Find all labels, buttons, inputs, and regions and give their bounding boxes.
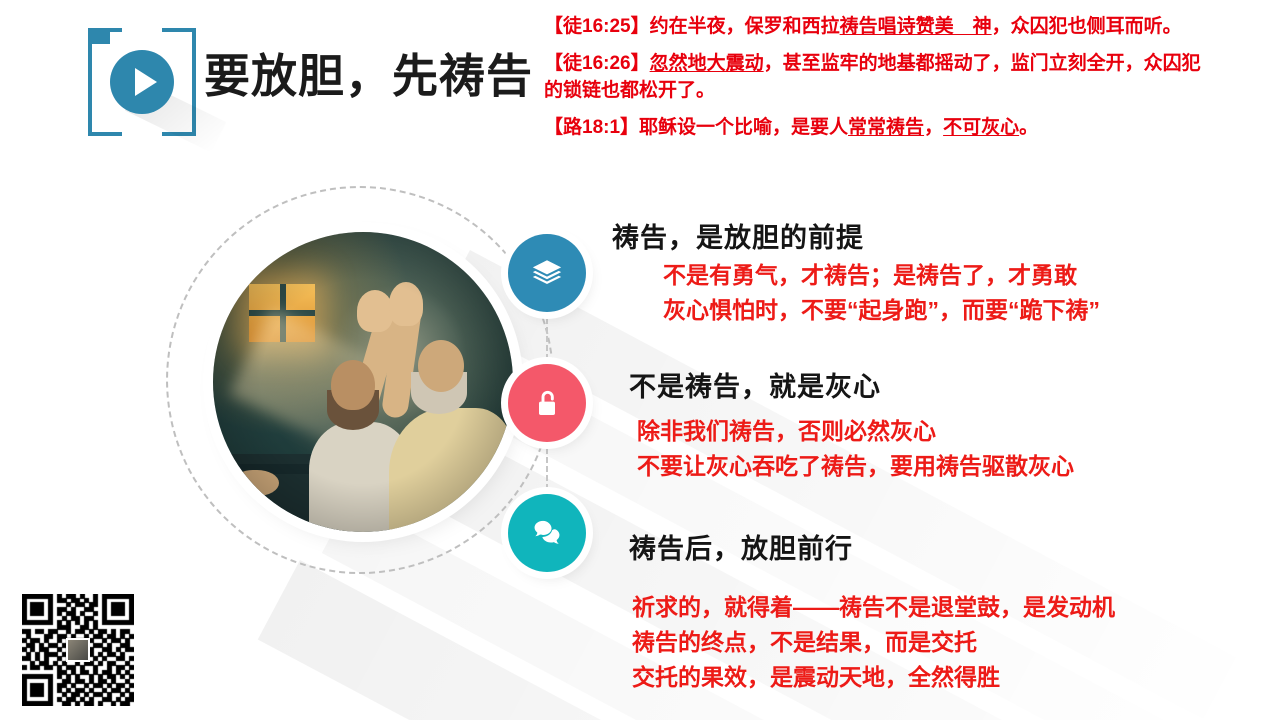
scripture-text: ，: [924, 117, 943, 138]
section-body-line: 祈求的，就得着——祷告不是退堂鼓，是发动机: [632, 590, 1115, 625]
dashed-connector-2: [546, 448, 548, 490]
prison-prayer-illustration: [213, 232, 513, 532]
page-title: 要放胆，先祷告: [204, 40, 533, 106]
scripture-text: 。: [1019, 117, 1038, 138]
section-body-line: 祷告的终点，不是结果，而是交托: [632, 625, 1115, 660]
scripture-verse: 【路18:1】耶稣设一个比喻，是要人常常祷告，不可灰心。: [544, 115, 1214, 142]
speech-bubbles-icon: [530, 516, 564, 550]
scripture-reference: 【徒16:26】: [544, 53, 650, 74]
section-body-line: 灰心惧怕时，不要“起身跑”，而要“跪下祷”: [663, 293, 1100, 328]
scripture-verse: 【徒16:25】约在半夜，保罗和西拉祷告唱诗赞美 神，众囚犯也侧耳而听。: [544, 14, 1214, 41]
illustration-vignette: [213, 232, 513, 532]
scripture-reference: 【路18:1】: [544, 117, 639, 138]
scripture-verse: 【徒16:26】忽然地大震动，甚至监牢的地基都摇动了，监门立刻全开，众囚犯的锁链…: [544, 51, 1214, 105]
section-2-body: 除非我们祷告，否则必然灰心不要让灰心吞吃了祷告，要用祷告驱散灰心: [637, 414, 1074, 484]
section-2-heading: 不是祷告，就是灰心: [629, 365, 881, 404]
scripture-emphasis: 忽然地大震动: [650, 53, 764, 74]
section-2-icon-badge[interactable]: [508, 364, 586, 442]
slide-root: 要放胆，先祷告 【徒16:25】约在半夜，保罗和西拉祷告唱诗赞美 神，众囚犯也侧…: [0, 0, 1280, 720]
play-button-icon: [110, 50, 174, 114]
section-3-body: 祈求的，就得着——祷告不是退堂鼓，是发动机祷告的终点，不是结果，而是交托交托的果…: [632, 590, 1115, 695]
section-1-icon-badge[interactable]: [508, 234, 586, 312]
scripture-emphasis: 祷告唱诗赞美 神: [840, 16, 992, 37]
scripture-text: 约在半夜，保罗和西拉: [650, 16, 840, 37]
section-1-body: 不是有勇气，才祷告；是祷告了，才勇敢灰心惧怕时，不要“起身跑”，而要“跪下祷”: [663, 258, 1100, 328]
scripture-text: ，众囚犯也侧耳而听。: [992, 16, 1182, 37]
scripture-text: 耶稣设一个比喻，是要人: [639, 117, 848, 138]
scripture-block: 【徒16:25】约在半夜，保罗和西拉祷告唱诗赞美 神，众囚犯也侧耳而听。【徒16…: [544, 14, 1214, 152]
dashed-connector-1: [546, 318, 548, 360]
section-body-line: 不是有勇气，才祷告；是祷告了，才勇敢: [663, 258, 1100, 293]
scripture-emphasis: 常常祷告: [848, 117, 924, 138]
unlock-icon: [531, 387, 563, 419]
scripture-emphasis: 不可灰心: [943, 117, 1019, 138]
scripture-reference: 【徒16:25】: [544, 16, 650, 37]
section-body-line: 交托的果效，是震动天地，全然得胜: [632, 660, 1115, 695]
qr-center-logo: [66, 638, 90, 662]
section-3-heading: 祷告后，放胆前行: [629, 527, 853, 566]
logo: [88, 28, 196, 136]
section-body-line: 除非我们祷告，否则必然灰心: [637, 414, 1074, 449]
section-body-line: 不要让灰心吞吃了祷告，要用祷告驱散灰心: [637, 449, 1074, 484]
layers-icon: [530, 256, 564, 290]
section-3-icon-badge[interactable]: [508, 494, 586, 572]
qr-code[interactable]: [22, 594, 134, 706]
section-1-heading: 祷告，是放胆的前提: [612, 216, 864, 255]
